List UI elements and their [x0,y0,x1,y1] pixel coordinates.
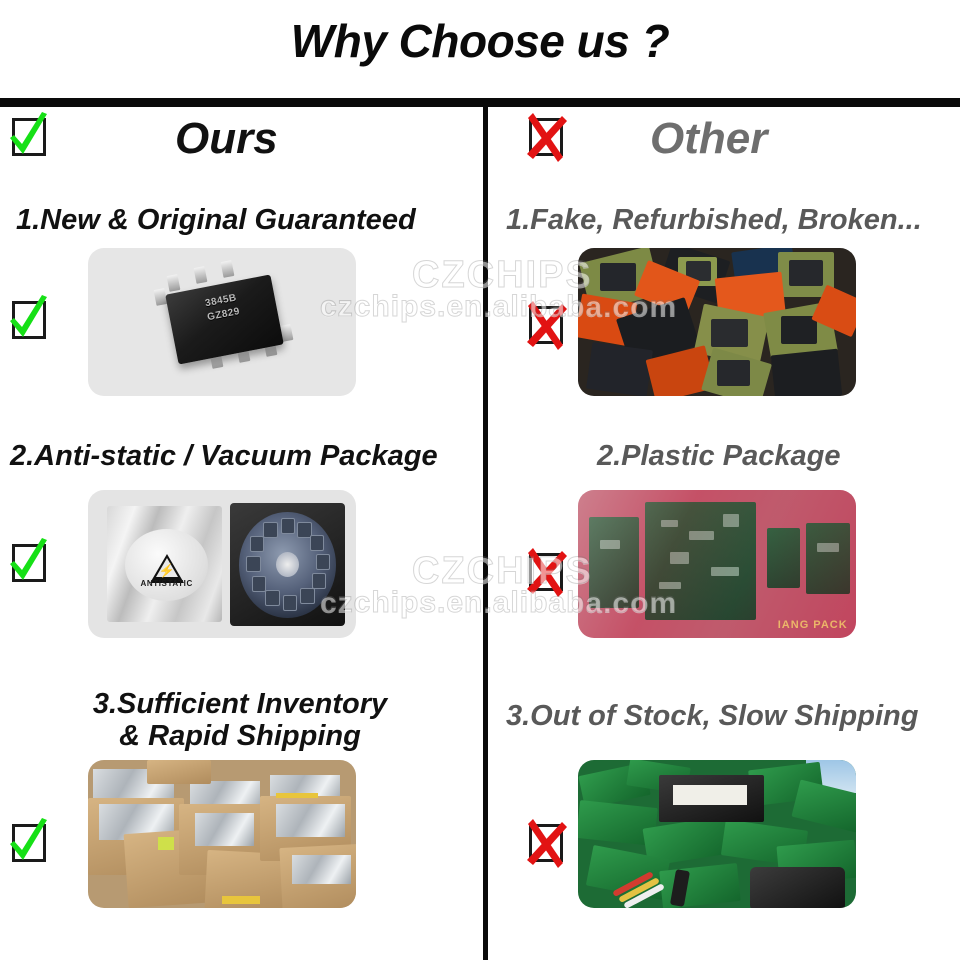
black-module [659,775,765,822]
scrap-cpu-pile [578,248,856,396]
row-3-other-photo [578,760,856,908]
row-3-ours-label: 3.Sufficient Inventory & Rapid Shipping [40,688,440,753]
row-3-ours-photo [88,760,356,908]
chip-marking: 3845B GZ829 [167,284,278,333]
vertical-divider [483,103,488,960]
green-check-icon-row-3 [6,818,50,868]
row-2-other-photo: IANG PACK [578,490,856,638]
lightning-bolt-icon: ⚡ [159,564,175,577]
green-check-icon-row-1 [6,295,50,345]
watermark-brand-1: CZCHIPS [412,254,593,297]
x-glyph [523,112,567,162]
red-x-icon-row-1 [523,300,567,350]
red-x-icon-row-3 [523,818,567,868]
row-2-ours-label: 2.Anti-static / Vacuum Package [10,440,438,472]
row-2-other-label: 2.Plastic Package [597,440,840,472]
row-1-ours-label: 1.New & Original Guaranteed [16,204,416,236]
module-label [673,785,747,805]
row-3-ours-label-line-1: 3.Sufficient Inventory [40,688,440,720]
component-reel [239,512,336,618]
check-glyph [6,538,50,588]
row-1-other-label: 1.Fake, Refurbished, Broken... [506,204,922,236]
column-header-other-label: Other [650,114,767,164]
reel-case [230,503,345,626]
x-glyph [523,818,567,868]
row-3-ours-label-line-2: & Rapid Shipping [40,720,440,752]
column-header-other: Other [650,108,767,170]
x-glyph [523,300,567,350]
antistatic-disc: ⚡ ANTISTATIC [125,529,208,601]
plastic-film-overlay [578,490,856,638]
row-1-ours-photo: 3845B GZ829 [88,248,356,396]
x-glyph [523,547,567,597]
column-header-ours-label: Ours [175,114,278,164]
check-glyph [6,295,50,345]
page-title: Why Choose us ? [0,14,960,68]
red-x-icon-header-other [523,112,567,162]
row-1-other-photo [578,248,856,396]
antistatic-label: ANTISTATIC [125,579,208,588]
horizontal-divider [0,98,960,107]
check-glyph [6,112,50,162]
green-check-icon-row-2 [6,538,50,588]
row-3-other-label: 3.Out of Stock, Slow Shipping [506,700,918,732]
antistatic-vacuum-bag: ⚡ ANTISTATIC [107,506,222,621]
red-x-icon-row-2 [523,547,567,597]
row-2-ours-photo: ⚡ ANTISTATIC [88,490,356,638]
green-check-icon-header-ours [6,112,50,162]
column-header-ours: Ours [175,108,278,170]
plastic-bag-tag: IANG PACK [778,619,848,631]
reel-hub [276,552,299,577]
check-glyph [6,818,50,868]
why-choose-us-comparison-graphic: Why Choose us ? Ours Other 1.New & Origi… [0,0,960,960]
chip-photo-inner: 3845B GZ829 [88,248,356,396]
